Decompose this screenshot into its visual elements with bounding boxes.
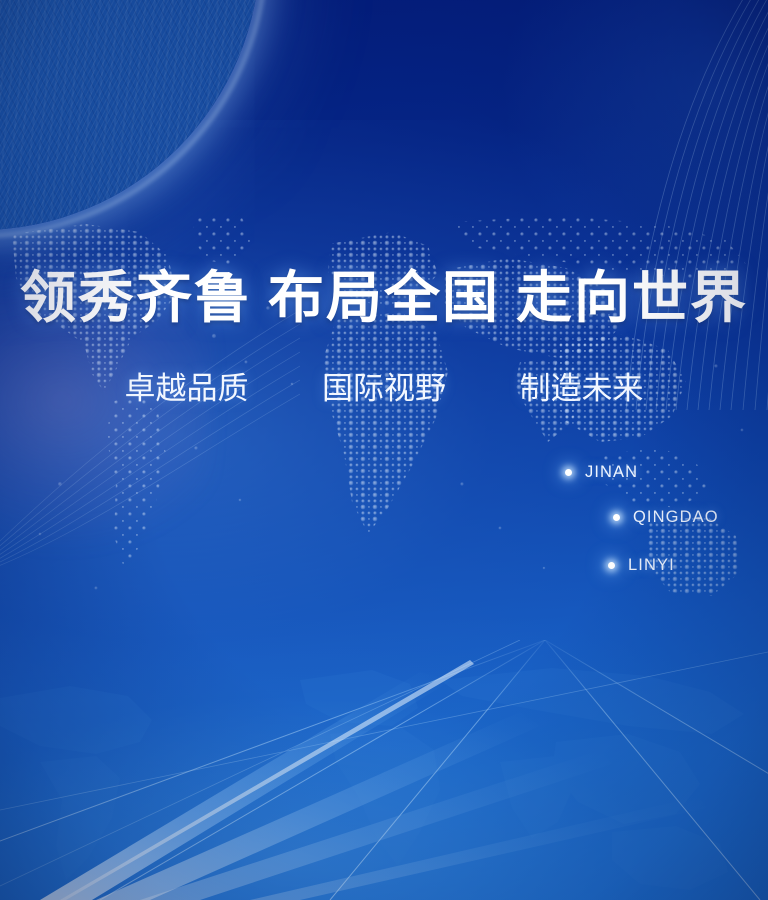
- city-marker-jinan[interactable]: JINAN: [565, 463, 638, 482]
- subtitle-word-3: 制造未来: [520, 370, 644, 408]
- map-pin-icon: [565, 469, 572, 476]
- subtitle-word-2: 国际视野: [322, 370, 446, 408]
- city-label-qingdao: QINGDAO: [633, 508, 719, 527]
- city-label-jinan: JINAN: [585, 463, 638, 482]
- light-streaks: [0, 600, 768, 900]
- map-pin-icon: [608, 562, 615, 569]
- city-label-linyi: LINYI: [628, 556, 675, 575]
- map-pin-icon: [613, 514, 620, 521]
- page-subtitle: 卓越品质 国际视野 制造未来: [0, 370, 768, 408]
- city-marker-linyi[interactable]: LINYI: [608, 556, 675, 575]
- subtitle-word-1: 卓越品质: [125, 370, 249, 408]
- page-title: 领秀齐鲁 布局全国 走向世界: [0, 268, 768, 330]
- hero-banner: 领秀齐鲁 布局全国 走向世界 卓越品质 国际视野 制造未来 JINAN QING…: [0, 0, 768, 900]
- city-marker-qingdao[interactable]: QINGDAO: [613, 508, 719, 527]
- globe-atmosphere-rim: [0, 0, 267, 237]
